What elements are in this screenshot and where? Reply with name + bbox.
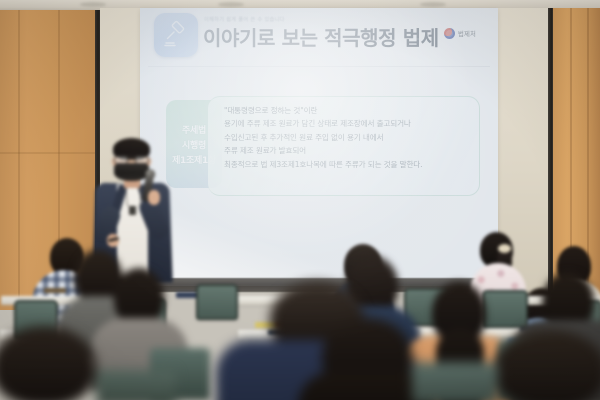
hair-clip	[498, 244, 511, 253]
chair	[96, 370, 176, 400]
face-mask-icon	[114, 163, 149, 181]
speaker-name-badge	[129, 206, 136, 215]
slide-header: 이해하기 쉽게 풀어 쓴 수 있습니다 이야기로 보는 적극행정 법제 법제처	[140, 10, 498, 62]
slide-body-line: 용기에 주류 제조 원료가 담긴 상태로 제조장에서 출고되거나	[224, 119, 469, 129]
slide-body-line: 수입신고된 후 추가적인 원료 주입 없이 용기 내에서	[224, 133, 469, 143]
law-reference-line-1: 주세법	[182, 123, 206, 136]
audience-person	[0, 326, 104, 400]
law-reference-line-2: 시행령	[182, 138, 206, 151]
speaker-hand-right	[148, 190, 160, 205]
audience-person	[486, 330, 600, 400]
slide-body-card: "대통령령으로 정하는 것"이란 용기에 주류 제조 원료가 담긴 상태로 제조…	[208, 96, 480, 196]
header-divider	[148, 66, 490, 67]
gavel-icon	[154, 13, 198, 57]
slide-body-line: "대통령령으로 정하는 것"이란	[224, 106, 469, 116]
slide-title: 이야기로 보는 적극행정 법제	[203, 22, 439, 51]
government-logo: 법제처	[444, 28, 476, 39]
slide-body-line: 주류 제조 원료가 발효되어	[224, 146, 469, 156]
government-logo-label: 법제처	[458, 29, 476, 38]
slide-body-line: 최종적으로 법 제3조제1호나목에 따른 주류가 되는 것을 말한다.	[224, 160, 469, 170]
chair	[412, 362, 498, 400]
presentation-slide: 이해하기 쉽게 풀어 쓴 수 있습니다 이야기로 보는 적극행정 법제 법제처 …	[140, 8, 498, 286]
korea-government-emblem-icon	[444, 28, 455, 39]
lecture-hall-photo: 이해하기 쉽게 풀어 쓴 수 있습니다 이야기로 보는 적극행정 법제 법제처 …	[0, 0, 600, 400]
